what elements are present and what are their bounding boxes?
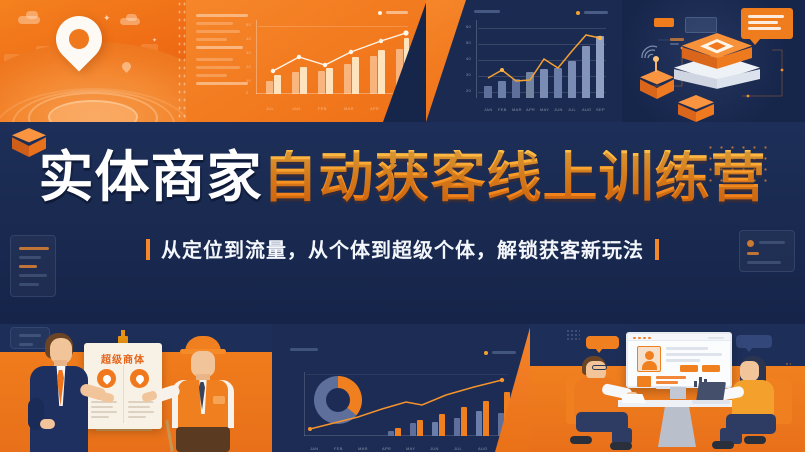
vest-pocket <box>213 396 225 404</box>
cloud-icon <box>126 14 137 21</box>
ghost-card <box>10 327 50 349</box>
chart-sidebar-lines <box>196 14 248 90</box>
legend-dot <box>576 11 580 15</box>
ghost-line <box>670 43 679 45</box>
shoe <box>744 436 766 444</box>
hand <box>40 419 55 429</box>
subtitle-bar-left <box>146 239 150 260</box>
dot-pattern <box>177 0 186 122</box>
chart-title-placeholder <box>290 348 318 351</box>
shoe <box>712 441 734 449</box>
speech-bubble-left <box>586 336 619 349</box>
trend-line <box>256 26 411 94</box>
monitor-stand <box>670 387 686 399</box>
panel-map-pin: ✦ ✦ <box>0 0 186 122</box>
panel-analytics: JAN FEB MAR APR MAY JUN JUL AUG SEP <box>272 324 530 452</box>
speech-bubble-icon <box>741 8 793 39</box>
dot-pattern <box>566 329 580 341</box>
titlebar-line <box>708 337 724 339</box>
antenna-dot <box>653 56 659 62</box>
legend-label <box>386 11 408 14</box>
subtitle-text: 从定位到流量，从个体到超级个体，解锁获客新玩法 <box>161 234 644 263</box>
legend-label <box>584 11 608 14</box>
subtitle-bar-right <box>655 239 659 260</box>
panel-presentation: 超级商体 <box>0 324 272 452</box>
title-row: 实体商家自动获客线上训练营 <box>0 150 805 205</box>
monitor-screen <box>626 332 732 388</box>
subtitle-row: 从定位到流量，从个体到超级个体，解锁获客新玩法 <box>0 234 805 263</box>
paper-sheet <box>620 394 646 403</box>
stat-card <box>637 376 651 387</box>
profile-avatar <box>637 346 661 372</box>
shoe <box>610 442 632 450</box>
panel-orange-chart: 50 40 30 20 10 0 <box>186 0 426 122</box>
legend-dot <box>484 351 488 355</box>
divider <box>123 365 124 423</box>
speech-bubble-right <box>736 335 772 348</box>
table-leg <box>658 407 696 447</box>
shoe <box>570 436 592 444</box>
whiteboard-title: 超级商体 <box>84 351 162 366</box>
trousers <box>176 427 230 452</box>
legend-label <box>492 351 516 354</box>
panel-dark-chart: 60 50 40 30 20 <box>426 0 622 122</box>
chart-plot-area: JAN FEB MAR APR MAY JUN JUL AUG SEP <box>304 372 510 444</box>
cloud-icon <box>26 11 38 19</box>
title-part-orange: 自动获客线上训练营 <box>263 150 767 205</box>
check-badge-icon <box>97 369 116 388</box>
ghost-line <box>670 38 684 41</box>
promo-poster: ✦ ✦ <box>0 0 805 452</box>
legend-dot <box>378 11 382 15</box>
trend-line <box>476 26 608 98</box>
banner-middle: 实体商家自动获客线上训练营 从定位到流量，从个体到超级个体，解锁获客新玩法 <box>0 122 805 325</box>
action-button[interactable] <box>680 365 698 372</box>
ghost-card <box>685 17 717 33</box>
easel-clip-top <box>121 330 125 338</box>
dot-pattern <box>785 362 791 371</box>
laptop-screen <box>696 382 726 402</box>
laptop-base <box>692 400 730 404</box>
face <box>740 361 759 381</box>
trend-line <box>304 378 510 436</box>
title-part-white: 实体商家 <box>38 150 262 205</box>
tag-badge <box>654 18 674 27</box>
bar-mini <box>694 381 697 387</box>
top-illustration-strip: ✦ ✦ <box>0 0 805 122</box>
check-badge-icon <box>130 369 149 388</box>
chart-title-placeholder <box>474 10 500 13</box>
chart-plot-area: 60 50 40 30 20 <box>476 20 608 106</box>
panel-meeting <box>530 324 805 452</box>
action-button[interactable] <box>702 365 720 372</box>
chart-plot-area: 50 40 30 20 10 0 <box>256 20 411 100</box>
panel-isometric <box>622 0 805 122</box>
bottom-illustration-strip: 超级商体 <box>0 324 805 452</box>
glasses-icon <box>592 365 607 370</box>
